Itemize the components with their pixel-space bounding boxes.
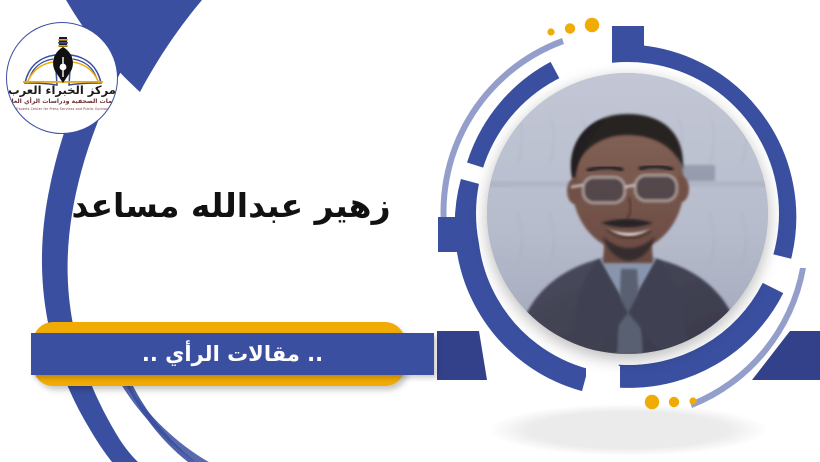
author-portrait-photo xyxy=(487,73,768,354)
orange-dot-medium xyxy=(669,397,679,407)
author-name: زهير عبدالله مساعد xyxy=(36,186,426,225)
orange-dot-large xyxy=(645,395,659,409)
bottom-left-blue-trapezoid xyxy=(437,331,487,380)
orange-dot-medium xyxy=(565,23,575,33)
orange-dot-small xyxy=(547,28,554,35)
category-banner[interactable]: .. مقالات الرأي .. xyxy=(33,322,405,386)
article-card-canvas: مركز الخبراء العرب للخدمات الصحفية ودراس… xyxy=(0,0,820,462)
left-blue-tab xyxy=(438,217,476,252)
orange-dot-large xyxy=(585,18,599,32)
orange-dot-small xyxy=(689,397,696,404)
banner-label: .. مقالات الرأي .. xyxy=(31,333,434,375)
portrait-reflection-shadow xyxy=(488,404,768,456)
logo[interactable]: مركز الخبراء العرب للخدمات الصحفية ودراس… xyxy=(6,22,118,134)
top-orange-dots xyxy=(547,18,599,36)
portrait-illustration xyxy=(487,73,768,354)
logo-mark-icon xyxy=(7,23,118,134)
